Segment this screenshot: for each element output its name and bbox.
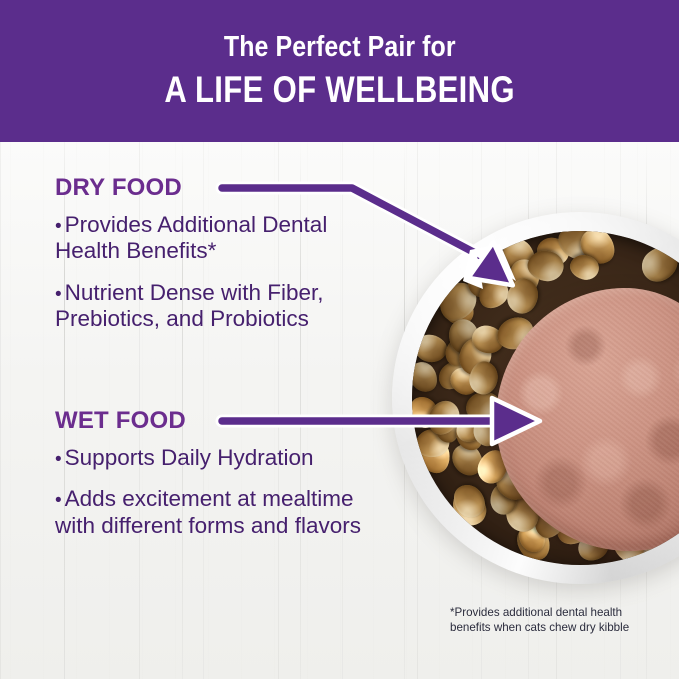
pet-food-bowl-photo <box>392 212 679 584</box>
infographic-root: The Perfect Pair for A LIFE OF WELLBEING… <box>0 0 679 679</box>
bullet-dot: • <box>55 216 62 237</box>
footnote: *Provides additional dental health benef… <box>450 605 675 636</box>
wet-food-bullets: •Supports Daily Hydration •Adds exciteme… <box>55 445 375 554</box>
list-item: •Provides Additional Dental Health Benef… <box>55 212 375 265</box>
list-item: •Nutrient Dense with Fiber, Prebiotics, … <box>55 280 375 333</box>
bullet-dot: • <box>55 449 62 470</box>
header-banner: The Perfect Pair for A LIFE OF WELLBEING <box>0 0 679 142</box>
footnote-line1: *Provides additional dental health <box>450 605 675 620</box>
list-item-text: Nutrient Dense with Fiber, Prebiotics, a… <box>55 280 324 331</box>
list-item: •Supports Daily Hydration <box>55 445 375 471</box>
list-item: •Adds excitement at mealtime with differ… <box>55 486 375 539</box>
header-title-line2: A LIFE OF WELLBEING <box>164 69 515 110</box>
bullet-dot: • <box>55 490 62 511</box>
section-heading-dry-food: DRY FOOD <box>55 174 182 202</box>
section-heading-wet-food: WET FOOD <box>55 407 186 435</box>
list-item-text: Supports Daily Hydration <box>65 445 314 470</box>
list-item-text: Provides Additional Dental Health Benefi… <box>55 212 327 263</box>
dry-food-bullets: •Provides Additional Dental Health Benef… <box>55 212 375 347</box>
footnote-line2: benefits when cats chew dry kibble <box>450 620 675 635</box>
list-item-text: Adds excitement at mealtime with differe… <box>55 486 361 537</box>
bullet-dot: • <box>55 284 62 305</box>
header-title-line1: The Perfect Pair for <box>224 32 456 63</box>
